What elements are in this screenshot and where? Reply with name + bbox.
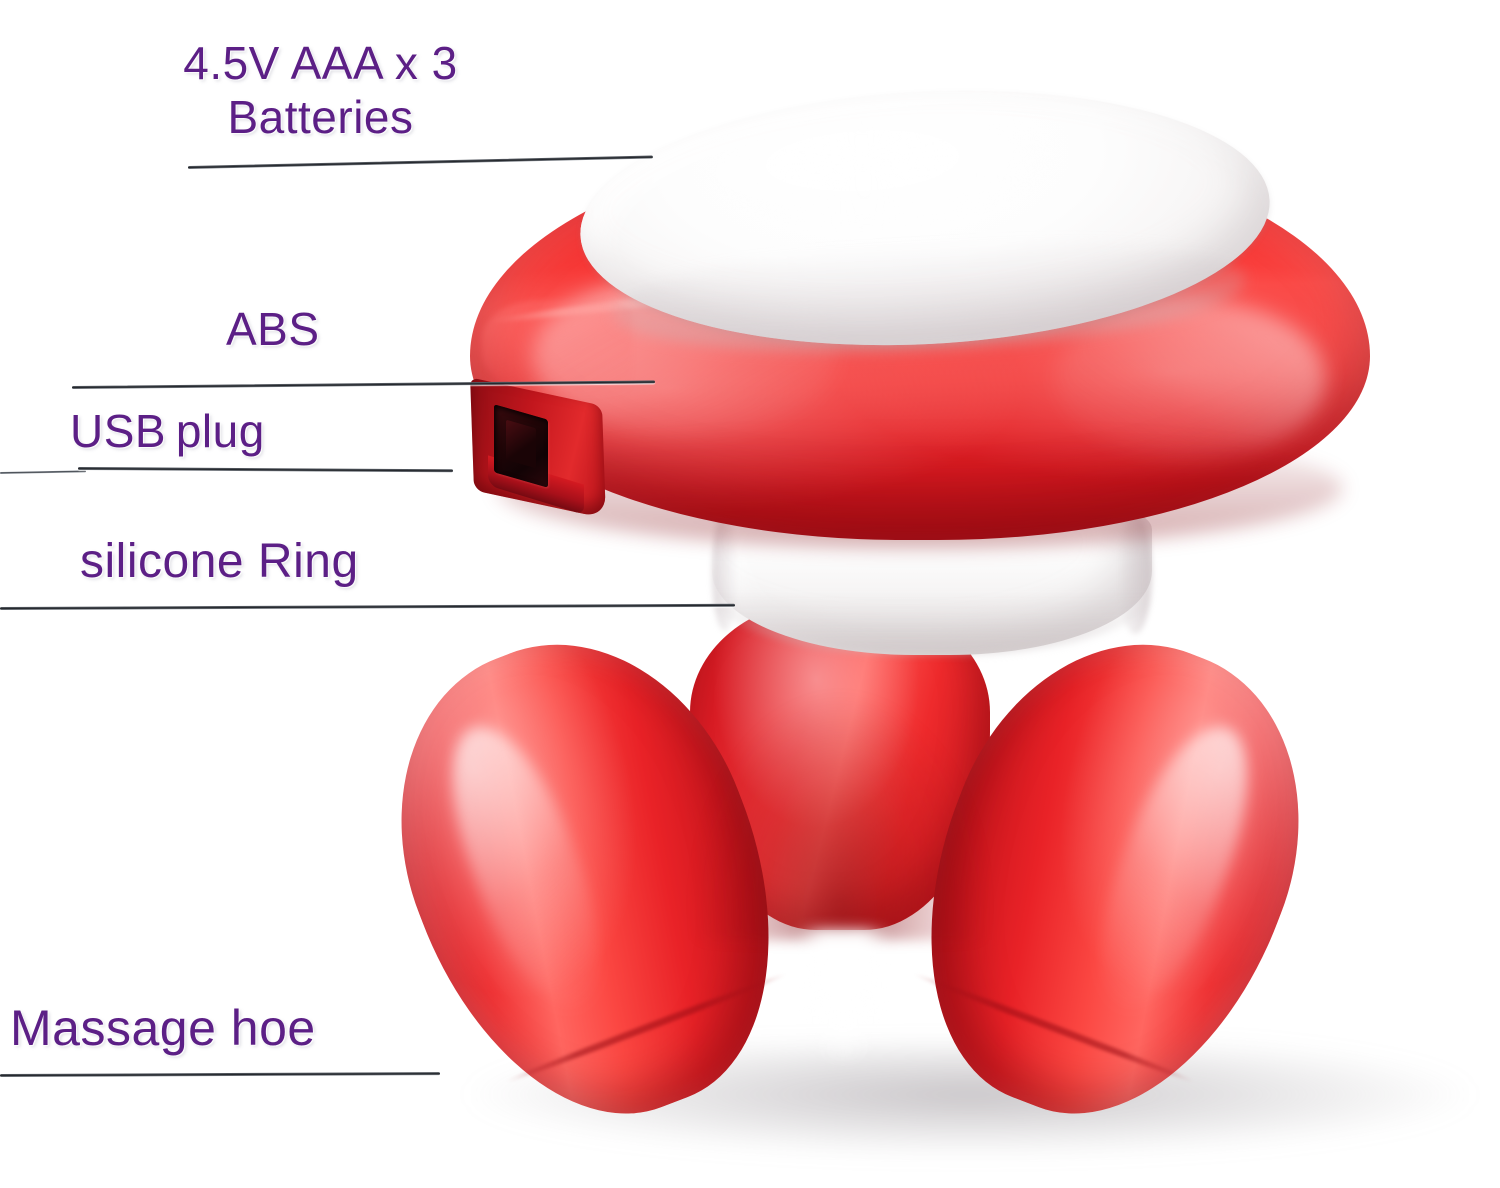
label-abs: ABS bbox=[220, 302, 326, 356]
leader-line-abs bbox=[72, 380, 655, 389]
leader-line-usb-plug-tail bbox=[0, 470, 86, 474]
massage-head-left bbox=[344, 595, 835, 1164]
leg-gap-highlight bbox=[800, 930, 886, 1060]
label-massage-hoe: Massage hoe bbox=[4, 998, 322, 1058]
label-usb-secondary: plug bbox=[176, 405, 265, 457]
usb-housing bbox=[470, 377, 606, 518]
annotated-product-photo: 4.5V AAA x 3 Batteries ABS USB plug sili… bbox=[0, 0, 1500, 1188]
leader-line-silicone-ring bbox=[0, 604, 735, 610]
massage-head-center bbox=[690, 600, 990, 930]
leg-right-seam bbox=[912, 970, 1195, 1084]
silicone-ring-band bbox=[712, 505, 1152, 655]
leader-line-massage-hoe bbox=[0, 1072, 440, 1077]
ground-shadow bbox=[470, 1045, 1470, 1155]
dome-right-gloss bbox=[1055, 300, 1325, 460]
cap-highlight bbox=[699, 110, 1063, 229]
ring-left-edge bbox=[712, 514, 738, 631]
leg-left-seam bbox=[504, 970, 787, 1084]
usb-plug-port-inner bbox=[506, 420, 536, 469]
label-batteries: 4.5V AAA x 3 Batteries bbox=[108, 36, 533, 144]
dome-crease bbox=[489, 268, 883, 326]
label-usb-primary: USB bbox=[70, 405, 166, 457]
massage-head-right bbox=[866, 595, 1357, 1164]
leg-junction-shading bbox=[690, 690, 990, 940]
leader-line-usb-plug bbox=[78, 467, 453, 472]
leg-left-gloss bbox=[425, 711, 627, 1024]
label-batteries-line1: 4.5V AAA x 3 bbox=[183, 37, 458, 89]
label-usb-plug: USB plug bbox=[62, 403, 273, 459]
red-abs-dome bbox=[470, 140, 1370, 540]
label-silicone-ring: silicone Ring bbox=[74, 533, 365, 591]
dome-rim-shade bbox=[497, 428, 1343, 548]
ring-right-edge bbox=[1118, 514, 1152, 634]
usb-plug-port bbox=[494, 404, 548, 487]
label-batteries-line2: Batteries bbox=[227, 91, 413, 143]
leg-right-gloss bbox=[1073, 711, 1275, 1024]
leader-line-batteries bbox=[188, 155, 653, 169]
white-battery-cap bbox=[574, 74, 1276, 362]
usb-housing-lip bbox=[488, 455, 584, 514]
dome-left-gloss bbox=[533, 276, 839, 436]
ring-bottom-shade bbox=[712, 592, 1152, 655]
cap-bottom-shade bbox=[609, 227, 1248, 366]
